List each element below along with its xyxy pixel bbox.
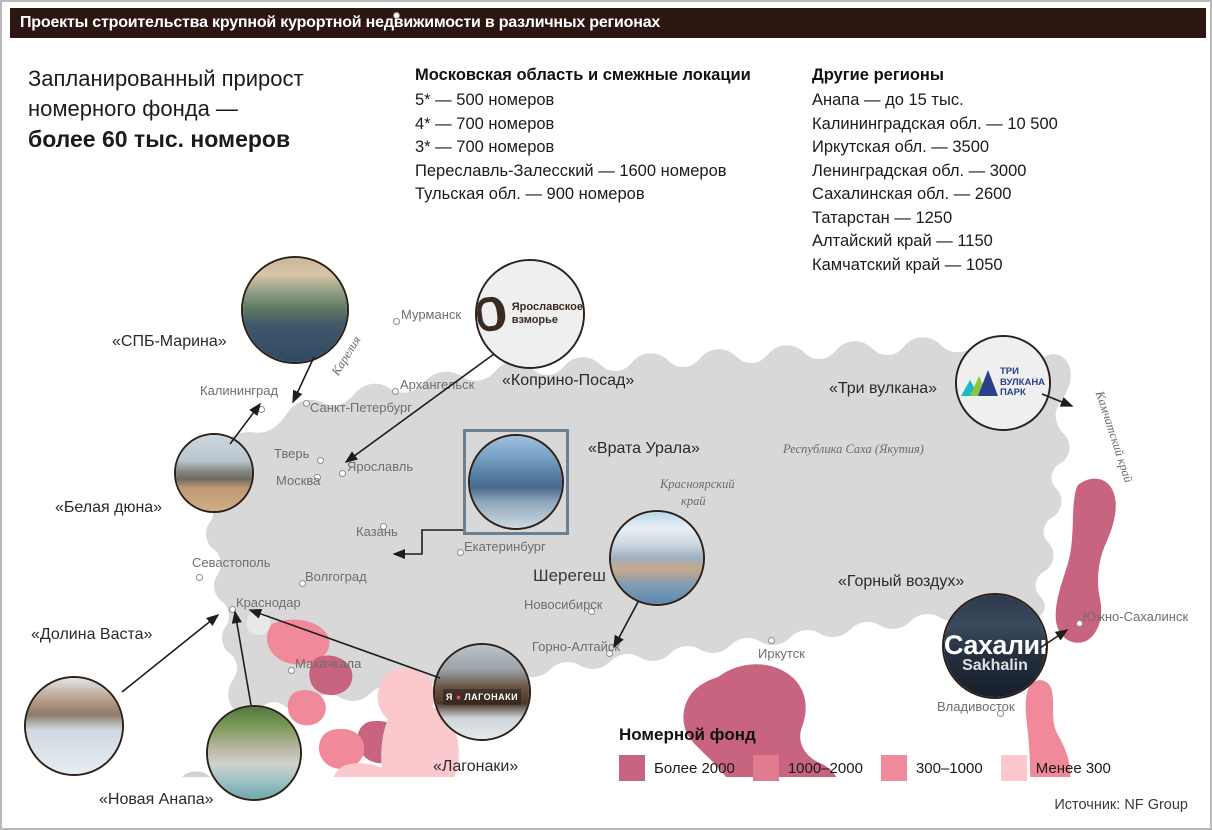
column-line: Переславль-Залесский — 1600 номеров (415, 160, 795, 184)
callout-vrata-urala[interactable] (463, 429, 569, 535)
column-line: 3* — 700 номеров (415, 136, 795, 160)
heart-icon: ● (456, 692, 461, 702)
legend-item-1000-2000: 1000–2000 (753, 755, 863, 781)
callout-title-tri-vulkana: «Три вулкана» (829, 380, 937, 398)
column-line: Тульская обл. — 900 номеров (415, 183, 795, 207)
legend-label: 300–1000 (916, 760, 983, 777)
column-moscow-region: Московская область и смежные локации 5* … (415, 66, 795, 207)
lede-highlight: более 60 тыс. номеров (28, 124, 388, 154)
callout-title-gorny-vozduh: «Горный воздух» (838, 573, 964, 591)
city-dot (1076, 620, 1083, 627)
city-dot (393, 318, 400, 325)
callout-lagonaki[interactable]: Я●ЛАГОНАКИ (433, 643, 531, 741)
callout-sheregesh[interactable] (609, 510, 705, 606)
sakhalin-wordmark: СахалинSakhalin (944, 630, 1046, 675)
callout-koprino-posad[interactable]: Ярославскоевзморье (475, 259, 585, 369)
volcano-icon (961, 370, 995, 396)
callout-title-novaya-anapa: «Новая Анапа» (99, 791, 214, 809)
city-dot (392, 388, 399, 395)
logo-text: Ярославскоевзморье (512, 301, 583, 327)
legend-swatch (619, 755, 645, 781)
source-attribution: Источник: NF Group (1054, 797, 1188, 813)
infographic-root: Проекты строительства крупной курортной … (0, 0, 1212, 830)
yaroslavskoe-vzmorye-logo: Ярославскоевзморье (477, 261, 583, 367)
legend-item-300-1000: 300–1000 (881, 755, 983, 781)
callout-gorny-vozduh[interactable]: СахалинSakhalin (942, 593, 1048, 699)
column-line: Ленинградская обл. — 3000 (812, 160, 1202, 184)
circle-photo (208, 707, 300, 799)
callout-photo-circle (468, 434, 564, 530)
region-label: Красноярский (660, 477, 735, 492)
circle-photo (176, 435, 252, 511)
legend-item-more-2000: Более 2000 (619, 755, 735, 781)
city-dot (339, 470, 346, 477)
city-dot (258, 406, 265, 413)
legend-label: 1000–2000 (788, 760, 863, 777)
sign-text: ЛАГОНАКИ (464, 692, 518, 702)
legend-label: Более 2000 (654, 760, 735, 777)
circle-photo (611, 512, 703, 604)
city-dot (196, 574, 203, 581)
column-line: Калининградская обл. — 10 500 (812, 113, 1202, 137)
legend-row: Более 2000 1000–2000 300–1000 Менее 300 (619, 755, 1129, 781)
callout-title-dolina-vasta: «Долина Васта» (31, 626, 152, 644)
legend: Номерной фонд Более 2000 1000–2000 300–1… (619, 725, 1129, 781)
circle-photo (26, 678, 122, 774)
city-dot (229, 606, 236, 613)
column-heading: Московская область и смежные локации (415, 66, 795, 85)
region-label: Республика Саха (Якутия) (783, 442, 924, 457)
legend-swatch (753, 755, 779, 781)
callout-novaya-anapa[interactable] (206, 705, 302, 801)
callout-title-lagonaki: «Лагонаки» (433, 758, 518, 776)
column-line: Иркутская обл. — 3500 (812, 136, 1202, 160)
callout-title-spb-marina: «СПБ-Марина» (112, 333, 227, 351)
legend-swatch (881, 755, 907, 781)
page-title: Проекты строительства крупной курортной … (10, 14, 660, 32)
legend-title: Номерной фонд (619, 725, 1129, 745)
lede-block: Запланированный прирост номерного фонда … (28, 64, 388, 154)
region-volga-light (319, 729, 364, 769)
circle-photo (243, 258, 347, 362)
callout-title-vrata-urala: «Врата Урала» (588, 440, 700, 458)
callout-belaya-dyuna[interactable] (174, 433, 254, 513)
city-dot (393, 12, 400, 19)
city-dot (288, 667, 295, 674)
city-dot (606, 650, 613, 657)
region-kamchatskiy (1056, 479, 1116, 643)
city-dot (317, 457, 324, 464)
column-line: 4* — 700 номеров (415, 113, 795, 137)
city-dot (314, 474, 321, 481)
city-dot (997, 710, 1004, 717)
city-dot (303, 400, 310, 407)
legend-item-less-300: Менее 300 (1001, 755, 1111, 781)
lede-line-2: номерного фонда — (28, 96, 238, 121)
callout-spb-marina[interactable] (241, 256, 349, 364)
lede-line-1: Запланированный прирост (28, 66, 304, 91)
region-perm (378, 668, 434, 725)
callout-title-belaya-dyuna: «Белая дюна» (55, 499, 162, 517)
callout-title-koprino-posad: «Коприно-Посад» (502, 372, 634, 390)
city-dot (768, 637, 775, 644)
circle-photo (470, 436, 562, 528)
header-bar: Проекты строительства крупной курортной … (10, 8, 1206, 38)
city-dot (588, 608, 595, 615)
callout-tri-vulkana[interactable]: ТРИВУЛКАНАПАРК (955, 335, 1051, 431)
lagonaki-sign: Я●ЛАГОНАКИ (443, 689, 522, 705)
legend-swatch (1001, 755, 1027, 781)
column-line: Сахалинская обл. — 2600 (812, 183, 1202, 207)
city-dot (457, 549, 464, 556)
city-dot (380, 523, 387, 530)
wordmark-secondary: Sakhalin (944, 657, 1046, 675)
spiral-icon (475, 295, 507, 333)
logo-text: ТРИВУЛКАНАПАРК (1000, 367, 1045, 399)
column-heading: Другие регионы (812, 66, 1202, 85)
tri-vulkana-logo: ТРИВУЛКАНАПАРК (957, 337, 1049, 429)
region-label: край (681, 494, 706, 509)
column-line: Анапа — до 15 тыс. (812, 89, 1202, 113)
legend-label: Менее 300 (1036, 760, 1111, 777)
callout-dolina-vasta[interactable] (24, 676, 124, 776)
city-dot (299, 580, 306, 587)
column-line: 5* — 500 номеров (415, 89, 795, 113)
